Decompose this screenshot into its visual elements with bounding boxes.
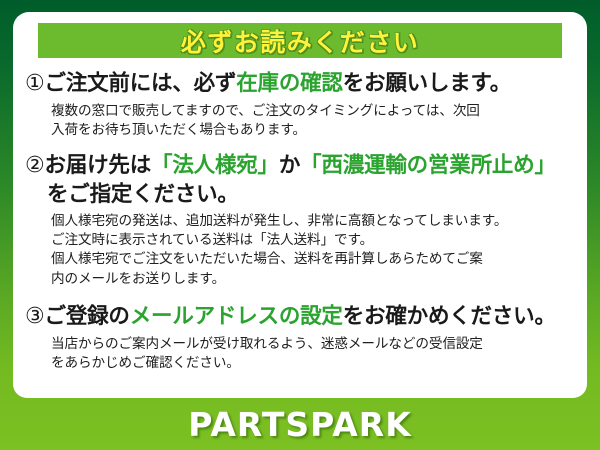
notice-1-headline: ①ご注文前には、必ず在庫の確認をお願いします。 [25, 70, 573, 99]
notice-2-number: ② [25, 153, 45, 178]
notice-1-detail: 複数の窓口で販売してますので、ご注文のタイミングによっては、次回 入荷をお待ち頂… [25, 102, 573, 141]
notice-2-headline-highlight-2: 「西濃運輸の営業所止め」 [300, 153, 556, 178]
notice-3-headline-post: をお確かめください。 [343, 304, 556, 329]
notice-1-headline-post: をお願いします。 [343, 71, 511, 96]
title-bar: 必ずお読みください [38, 23, 562, 58]
notice-1-number: ① [25, 71, 45, 96]
white-panel: 必ずお読みください ①ご注文前には、必ず在庫の確認をお願いします。 複数の窓口で… [13, 12, 587, 398]
notice-item-2: ②お届け先は「法人様宛」か「西濃運輸の営業所止め」をご指定ください。 個人様宅宛… [25, 152, 573, 289]
notice-2-detail: 個人様宅宛の発送は、追加送料が発生し、非常に高額となってしまいます。 ご注文時に… [25, 212, 573, 289]
notice-2-headline-mid: か [279, 153, 300, 178]
notice-2-headline-highlight: 「法人様宛」 [151, 153, 279, 178]
notice-2-headline-pre: お届け先は [45, 153, 152, 178]
notice-3-headline-pre: ご登録の [45, 304, 130, 329]
notice-list: ①ご注文前には、必ず在庫の確認をお願いします。 複数の窓口で販売してますので、ご… [13, 68, 587, 375]
notice-2-headline: ②お届け先は「法人様宛」か「西濃運輸の営業所止め」をご指定ください。 [25, 152, 573, 209]
notice-banner: 必ずお読みください ①ご注文前には、必ず在庫の確認をお願いします。 複数の窓口で… [0, 0, 600, 450]
notice-3-headline: ③ご登録のメールアドレスの設定をお確かめください。 [25, 303, 573, 332]
banner-title: 必ずお読みください [181, 23, 420, 59]
notice-3-number: ③ [25, 304, 45, 329]
notice-3-detail: 当店からのご案内メールが受け取れるよう、迷惑メールなどの受信設定 をあらかじめご… [25, 335, 573, 374]
footer-bar: PARTSPARK [0, 398, 600, 450]
notice-2-headline-line2: をご指定ください。 [25, 181, 573, 209]
notice-1-headline-pre: ご注文前には、必ず [45, 71, 237, 96]
notice-3-headline-highlight: メールアドレスの設定 [130, 304, 343, 329]
notice-item-3: ③ご登録のメールアドレスの設定をお確かめください。 当店からのご案内メールが受け… [25, 303, 573, 373]
notice-1-headline-highlight: 在庫の確認 [236, 71, 343, 96]
notice-item-1: ①ご注文前には、必ず在庫の確認をお願いします。 複数の窓口で販売してますので、ご… [25, 70, 573, 140]
brand-logo: PARTSPARK [188, 405, 412, 444]
